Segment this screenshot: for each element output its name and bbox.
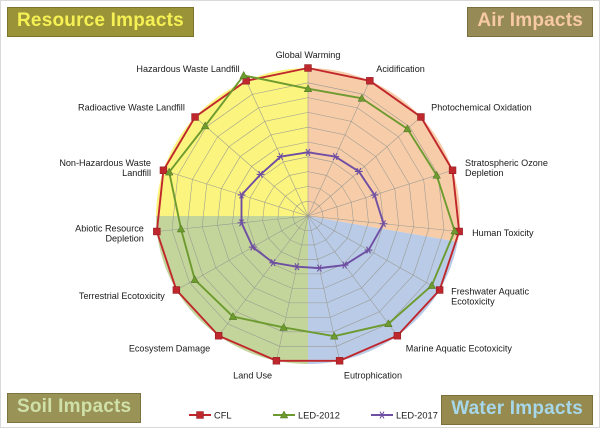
radar-chart-figure: Resource Impacts Air Impacts Soil Impact… bbox=[0, 0, 600, 428]
axis-label-7: Eutrophication bbox=[344, 371, 402, 381]
square-marker bbox=[173, 287, 180, 294]
quadrant-air-impacts bbox=[308, 68, 460, 242]
square-marker bbox=[160, 167, 167, 174]
triangle-marker bbox=[240, 71, 248, 78]
axis-label-11: Abiotic ResourceDepletion bbox=[75, 224, 144, 244]
square-marker bbox=[366, 77, 373, 84]
square-marker bbox=[305, 65, 312, 72]
axis-label-0: Global Warming bbox=[276, 50, 341, 60]
axis-label-5: Freshwater AquaticEcotoxicity bbox=[451, 286, 529, 306]
star-marker bbox=[378, 412, 386, 419]
legend-item-led-2017[interactable]: LED-2017 bbox=[371, 410, 438, 420]
axis-label-14: Hazardous Waste Landfill bbox=[136, 64, 239, 74]
axis-label-6: Marine Aquatic Ecotoxicity bbox=[406, 344, 513, 354]
axis-label-12: Non-Hazardous WasteLandfill bbox=[59, 158, 151, 178]
square-marker bbox=[192, 114, 199, 121]
square-marker bbox=[436, 287, 443, 294]
square-marker bbox=[449, 167, 456, 174]
legend-label: LED-2017 bbox=[396, 410, 438, 420]
square-marker bbox=[336, 357, 343, 364]
axis-label-13: Radioactive Waste Landfill bbox=[78, 103, 185, 113]
square-marker bbox=[273, 357, 280, 364]
square-marker bbox=[197, 412, 204, 419]
legend-item-led-2012[interactable]: LED-2012 bbox=[273, 410, 340, 420]
axis-label-4: Human Toxicity bbox=[472, 228, 534, 238]
axis-label-8: Land Use bbox=[233, 371, 272, 381]
chart-legend: CFLLED-2012LED-2017 bbox=[189, 410, 438, 420]
legend-label: LED-2012 bbox=[298, 410, 340, 420]
axis-label-2: Photochemical Oxidation bbox=[431, 103, 532, 113]
square-marker bbox=[418, 114, 425, 121]
square-marker bbox=[394, 332, 401, 339]
legend-item-cfl[interactable]: CFL bbox=[189, 410, 232, 420]
legend-label: CFL bbox=[214, 410, 232, 420]
axis-label-10: Terrestrial Ecotoxicity bbox=[79, 291, 165, 301]
axis-label-3: Stratospheric OzoneDepletion bbox=[465, 158, 548, 178]
axis-label-1: Acidification bbox=[376, 64, 425, 74]
radar-plot-area: Global WarmingAcidificationPhotochemical… bbox=[1, 1, 600, 428]
square-marker bbox=[153, 228, 160, 235]
axis-label-9: Ecosystem Damage bbox=[129, 344, 210, 354]
square-marker bbox=[215, 332, 222, 339]
